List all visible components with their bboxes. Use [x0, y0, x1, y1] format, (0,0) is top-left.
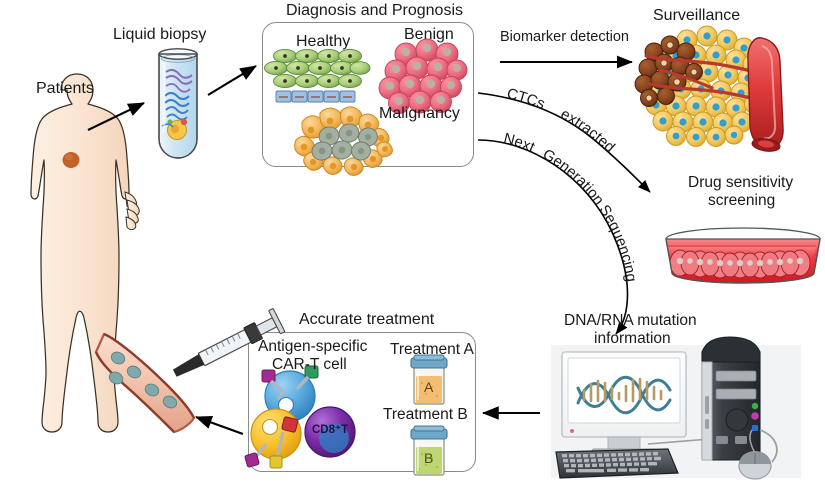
computer-tower — [702, 337, 777, 462]
label-antigen-specific-1: Antigen-specific — [258, 338, 367, 356]
label-treatment-a: Treatment A — [390, 341, 474, 359]
curve-label-generation: Generation — [540, 146, 608, 209]
blood-vessel-infusion — [96, 334, 194, 432]
curve-label-extracted: extracted — [558, 105, 618, 156]
curve-ctcs-extracted — [478, 93, 650, 192]
arrow-biopsy-to-diagnosis — [208, 66, 256, 95]
computer-mouse — [739, 430, 771, 479]
blood-vessel — [748, 38, 783, 153]
label-treatment-b: Treatment B — [383, 406, 468, 424]
curve-label-sequencing: Sequencing — [596, 202, 640, 283]
figure-canvas: CTCs extracted Next Generation Sequencin… — [0, 0, 825, 482]
computer-workstation — [551, 337, 801, 479]
curve-label-ctcs-word1: CTCs — [505, 85, 547, 113]
label-accurate-treatment: Accurate treatment — [299, 311, 434, 330]
label-drug-sensitivity-2: screening — [708, 192, 775, 210]
label-dna-rna-mutation-1: DNA/RNA mutation — [564, 312, 697, 330]
arrow-treatment-to-patient — [196, 417, 243, 434]
label-drug-sensitivity-1: Drug sensitivity — [688, 174, 793, 192]
label-antigen-specific-2: CAR-T cell — [272, 356, 347, 374]
label-dna-rna-mutation-2: information — [594, 330, 671, 348]
label-cd8-t-cell: CD8⁺T — [312, 424, 348, 438]
label-diagnosis-prognosis: Diagnosis and Prognosis — [286, 2, 463, 21]
curve-label-ctcs: CTCs — [505, 85, 547, 113]
arrow-patient-to-biopsy — [88, 103, 144, 130]
label-healthy: Healthy — [296, 33, 350, 52]
surveillance-tumor-illustration — [635, 26, 783, 153]
dna-helix-graphic — [578, 377, 670, 413]
label-patients: Patients — [36, 80, 94, 99]
curve-label-ngs-word2: Generation — [540, 146, 608, 209]
liquid-biopsy-tube — [159, 49, 197, 158]
curve-label-ctcs-word2: extracted — [558, 105, 618, 156]
label-benign: Benign — [404, 26, 454, 45]
keyboard — [556, 449, 678, 478]
label-vial-a: A — [424, 379, 433, 396]
curve-next-generation-sequencing — [478, 140, 628, 334]
label-biomarker-detection: Biomarker detection — [500, 29, 629, 46]
drug-sensitivity-dish — [660, 228, 825, 283]
tumor-spot — [63, 152, 80, 168]
label-vial-b: B — [424, 450, 433, 467]
label-surveillance: Surveillance — [653, 7, 740, 26]
curve-label-next: Next — [502, 130, 538, 156]
curve-label-ngs-word3: Sequencing — [596, 202, 640, 283]
patient-figure — [31, 74, 139, 432]
label-liquid-biopsy: Liquid biopsy — [113, 26, 206, 45]
label-malignancy: Malignancy — [379, 105, 460, 124]
curve-label-ngs-word1: Next — [502, 130, 538, 156]
